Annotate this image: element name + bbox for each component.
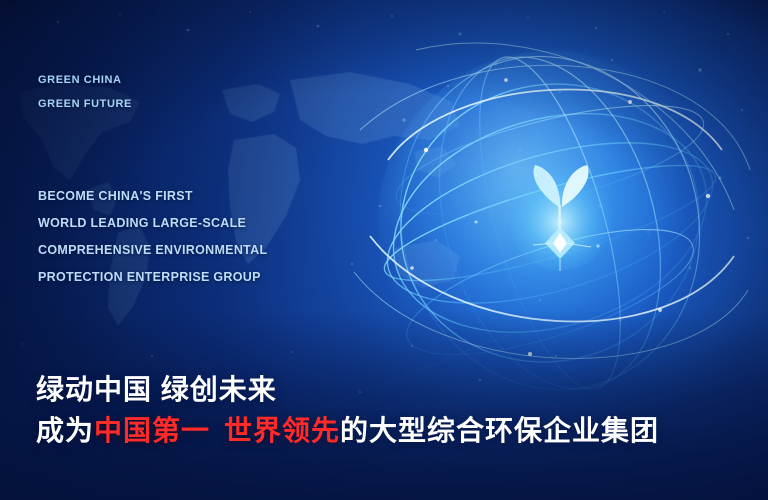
tagline-line-2: GREEN FUTURE [38, 92, 338, 116]
headline-highlight-world-leading: 世界领先 [224, 415, 340, 446]
english-mission-block: BECOME CHINA'S FIRST WORLD LEADING LARGE… [38, 183, 358, 291]
headline-line-2: 成为中国第一世界领先的大型综合环保企业集团 [36, 410, 746, 452]
mission-line-4: PROTECTION ENTERPRISE GROUP [38, 264, 358, 291]
headline-highlight-china-first: 中国第一 [94, 415, 210, 446]
headline-prefix: 成为 [36, 415, 94, 446]
mission-line-3: COMPREHENSIVE ENVIRONMENTAL [38, 237, 358, 264]
headline-suffix: 的大型综合环保企业集团 [340, 415, 659, 446]
headline-line-1: 绿动中国 绿创未来 [36, 370, 746, 410]
chinese-headline-block: 绿动中国 绿创未来 成为中国第一世界领先的大型综合环保企业集团 [36, 370, 746, 452]
mission-line-2: WORLD LEADING LARGE-SCALE [38, 210, 358, 237]
english-tagline-block: GREEN CHINA GREEN FUTURE [38, 68, 338, 116]
tagline-line-1: GREEN CHINA [38, 68, 338, 92]
mission-line-1: BECOME CHINA'S FIRST [38, 183, 358, 210]
hero-banner: GREEN CHINA GREEN FUTURE BECOME CHINA'S … [0, 0, 768, 500]
